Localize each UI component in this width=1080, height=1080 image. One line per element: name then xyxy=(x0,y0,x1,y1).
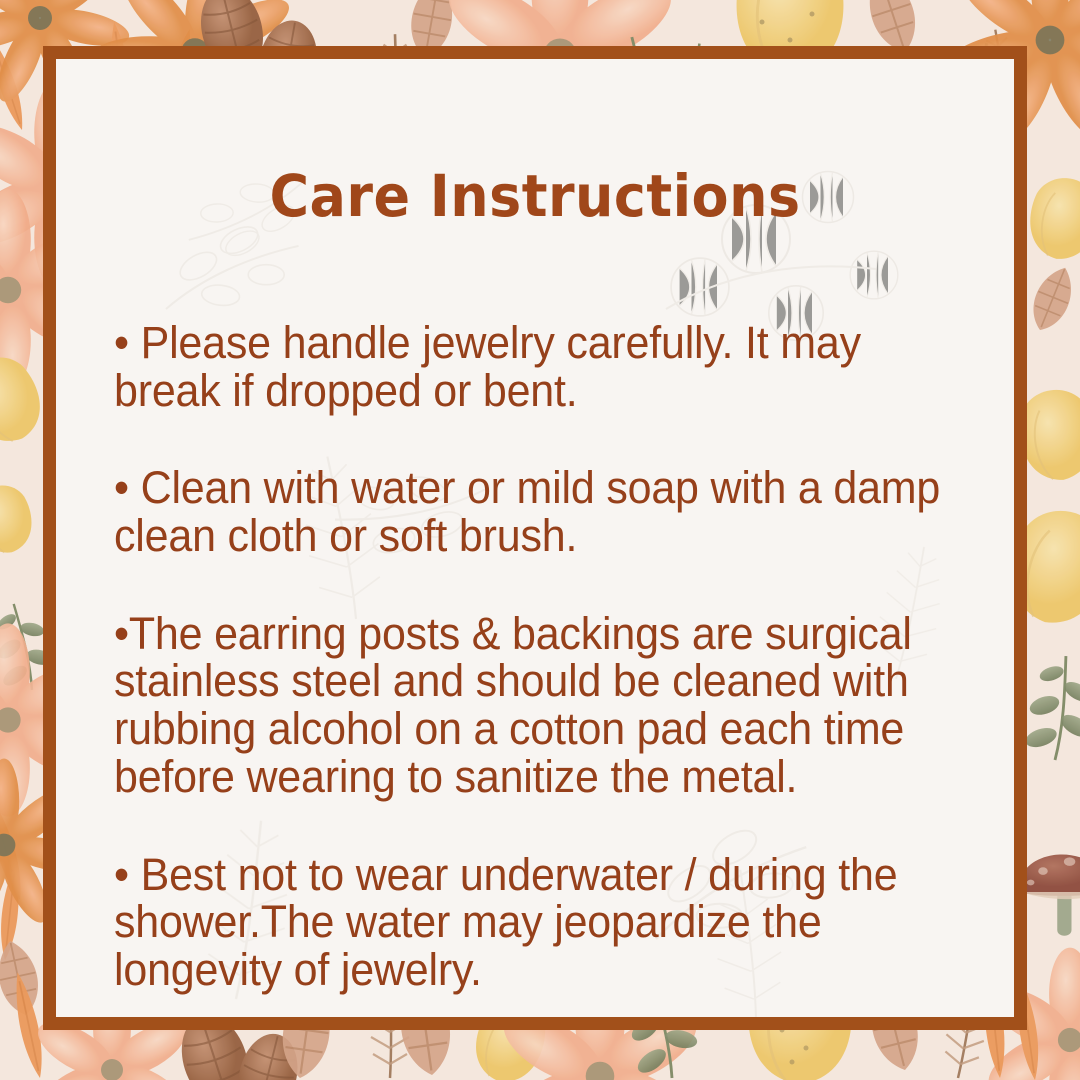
care-instructions-card: Care Instructions • Please handle jewelr… xyxy=(0,0,1080,1080)
list-item: •The earring posts & backings are surgic… xyxy=(114,610,949,801)
list-item: • Best not to wear underwater / during t… xyxy=(114,851,949,994)
list-item: • Clean with water or mild soap with a d… xyxy=(114,464,949,559)
care-instructions-list: • Please handle jewelry carefully. It ma… xyxy=(114,274,988,994)
page-title: Care Instructions xyxy=(90,167,981,225)
brown-frame: Care Instructions • Please handle jewelr… xyxy=(43,46,1027,1030)
list-item: • Please handle jewelry carefully. It ma… xyxy=(114,319,949,414)
